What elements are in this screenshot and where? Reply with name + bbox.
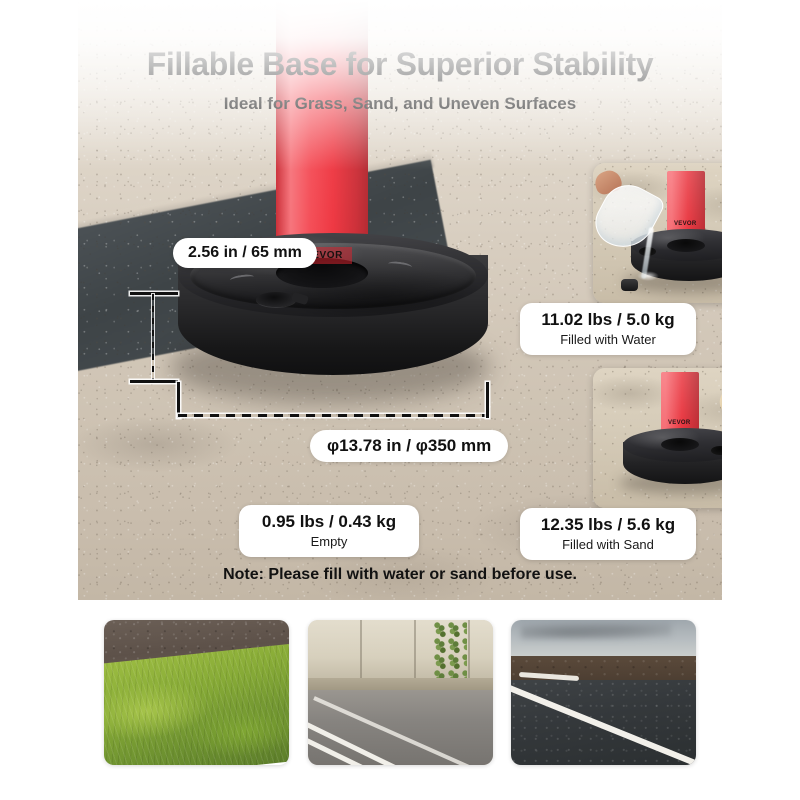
base-fill-plug — [256, 292, 296, 307]
diameter-dimension-cap-left — [177, 382, 180, 418]
weight-caption-water: Filled with Water — [532, 332, 684, 347]
asphalt-clouds — [521, 622, 671, 640]
surface-thumbnail-asphalt — [511, 620, 696, 765]
height-dimension-cap-top — [130, 292, 178, 295]
height-dimension-cap-bottom — [130, 380, 178, 383]
weight-card-empty: 0.95 lbs / 0.43 kg Empty — [239, 505, 419, 557]
weight-value-empty: 0.95 lbs / 0.43 kg — [251, 512, 407, 532]
height-label: 2.56 in / 65 mm — [173, 238, 317, 268]
height-dimension-line — [152, 294, 154, 382]
water-splash — [637, 271, 659, 281]
diameter-dimension-line — [178, 414, 488, 417]
weight-value-water: 11.02 lbs / 5.0 kg — [532, 310, 684, 330]
weight-card-sand: 12.35 lbs / 5.6 kg Filled with Sand — [520, 508, 696, 560]
weight-card-water: 11.02 lbs / 5.0 kg Filled with Water — [520, 303, 696, 355]
diameter-label: φ13.78 in / φ350 mm — [310, 430, 508, 462]
surface-thumbnail-roadway — [308, 620, 493, 765]
usage-note: Note: Please fill with water or sand bef… — [0, 566, 800, 584]
inset-water-post-socket — [667, 239, 705, 252]
weight-value-sand: 12.35 lbs / 5.6 kg — [532, 515, 684, 535]
surface-thumbnail-grass — [104, 620, 289, 765]
weight-caption-sand: Filled with Sand — [532, 537, 684, 552]
inset-photo-sand: VEVOR — [593, 368, 722, 508]
page-subtitle: Ideal for Grass, Sand, and Uneven Surfac… — [0, 94, 800, 114]
inset-sand-fill-hole — [711, 446, 722, 455]
roadway-vine — [433, 622, 467, 678]
page-title: Fillable Base for Superior Stability — [0, 46, 800, 83]
product-feature-page: VEVOR 2.56 in / 65 mm φ13.78 in / φ350 m… — [0, 0, 800, 800]
inset-sand-post-socket — [661, 438, 699, 451]
inset-sand-brand-logo: VEVOR — [668, 420, 691, 426]
inset-water-brand-logo: VEVOR — [674, 221, 697, 227]
inset-photo-water: VEVOR — [593, 163, 722, 303]
diameter-dimension-cap-right — [486, 382, 489, 418]
weight-caption-empty: Empty — [251, 534, 407, 549]
grass-field — [104, 644, 289, 765]
surface-thumbnail-strip — [104, 620, 696, 765]
removed-cap — [621, 279, 638, 291]
